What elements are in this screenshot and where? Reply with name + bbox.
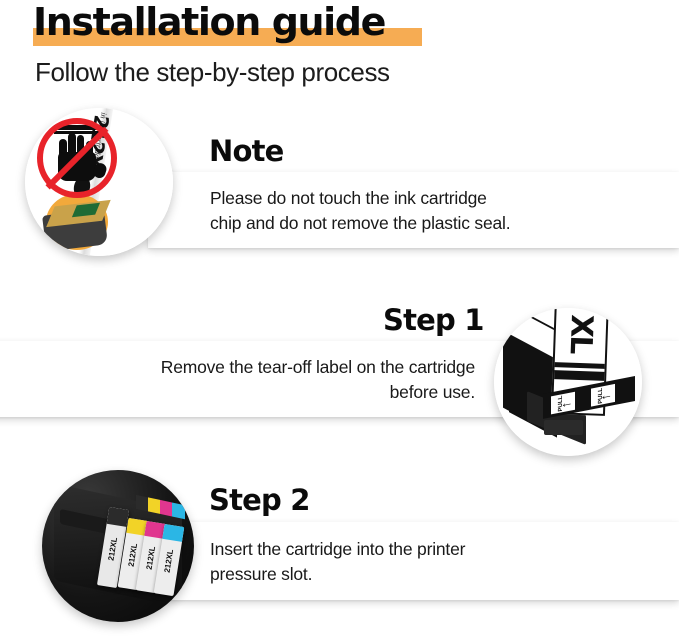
tear-off-label-photo: XL PULL ← PULL ← (494, 308, 642, 456)
step-2-body-line-2: pressure slot. (210, 562, 640, 587)
no-touch-cartridge-chip-photo: in ink cartridges 212XL (25, 108, 173, 256)
page-subtitle: Follow the step-by-step process (35, 56, 390, 88)
cartridge-label: 212XL (144, 546, 157, 571)
slot-marker-c (173, 503, 185, 519)
cartridge-label: 212XL (106, 537, 119, 562)
cartridge-cap (106, 507, 128, 527)
cartridge-label: 212XL (162, 549, 175, 574)
step-2-image-bubble: 212XL 212XL 212XL 212XL (42, 470, 194, 622)
cartridge-cap (162, 524, 184, 542)
step-2-body-text: Insert the cartridge into the printer pr… (210, 537, 640, 587)
pull-label-left: PULL ← (551, 391, 575, 414)
no-touch-icon (37, 118, 117, 198)
step-2-body-line-1: Insert the cartridge into the printer (210, 537, 640, 562)
pull-arrow-icon: ← (560, 393, 573, 411)
step-1-body-text: Remove the tear-off label on the cartrid… (60, 355, 475, 405)
note-image-bubble: in ink cartridges 212XL (25, 108, 173, 256)
note-body-line-2: chip and do not remove the plastic seal. (210, 211, 630, 236)
note-body-text: Please do not touch the ink cartridge ch… (210, 186, 630, 236)
note-heading: Note (209, 134, 284, 168)
note-body-line-1: Please do not touch the ink cartridge (210, 186, 630, 211)
step-1-heading: Step 1 (383, 303, 484, 337)
step-2-heading: Step 2 (209, 483, 310, 517)
step-1-body-line-1: Remove the tear-off label on the cartrid… (60, 355, 475, 380)
pull-label-right: PULL ← (591, 383, 615, 406)
page-title: Installation guide (33, 0, 385, 46)
slot-marker-y (148, 498, 160, 514)
cartridge-band (554, 370, 605, 381)
slot-marker-m (161, 500, 173, 516)
cartridge-foot (544, 420, 582, 435)
cartridge-band (555, 362, 605, 369)
slot-marker-bk (136, 495, 148, 511)
cartridge-label: 212XL (126, 543, 139, 568)
page-title-wrap: Installation guide (33, 0, 385, 50)
cartridge-xl-text: XL (563, 314, 599, 353)
insert-cartridge-printer-photo: 212XL 212XL 212XL 212XL (42, 470, 194, 622)
pull-arrow-icon: ← (600, 385, 613, 403)
step-1-body-line-2: before use. (60, 380, 475, 405)
step-1-image-bubble: XL PULL ← PULL ← (494, 308, 642, 456)
